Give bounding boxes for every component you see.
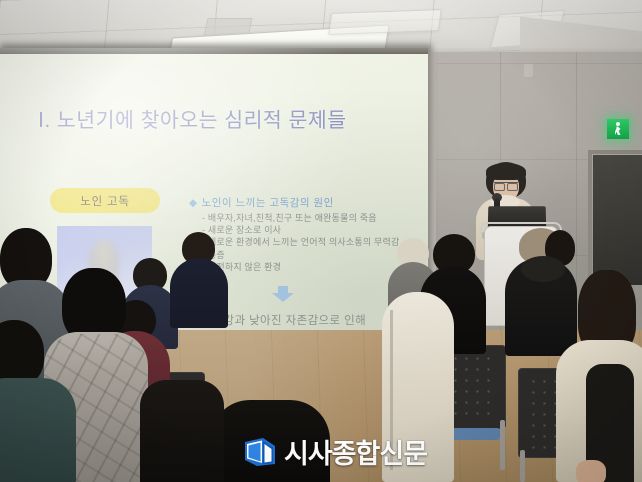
audience-member	[170, 232, 228, 328]
slide-sub-bullet-list: 배우자,자녀,친척,친구 또는 애완동물의 죽음 새로운 장소로 이사 새로운 …	[202, 212, 400, 273]
audience-torso	[0, 378, 76, 482]
chair-leg	[520, 450, 525, 482]
audience-bag	[140, 380, 224, 482]
list-item: 새로운 장소로 이사	[202, 224, 400, 236]
audience-hands	[576, 460, 606, 482]
audience-member	[0, 320, 72, 482]
audience-member	[560, 270, 642, 482]
list-item: 새로운 환경에서 느끼는 언어적 의사소통의 무력감	[202, 236, 400, 248]
doorway	[593, 155, 642, 285]
emergency-exit-icon	[606, 118, 630, 140]
slide-bullet-heading-text: 노인이 느끼는 고독감의 원인	[202, 197, 334, 209]
bullet-marker-icon: ◆	[189, 197, 198, 209]
watermark-text: 시사종합신문	[284, 432, 427, 471]
chair-leg	[500, 420, 505, 470]
photo-scene: Ⅰ. 노년기에 찾아오는 심리적 문제들 노인 고독 ◆노인이 느끼는 고독감의…	[0, 0, 642, 482]
audience-torso	[170, 258, 228, 328]
audience-member	[140, 380, 224, 482]
list-item: 통증	[202, 249, 400, 261]
list-item: 안전하지 않은 환경	[202, 261, 400, 273]
down-arrow-icon	[272, 286, 294, 302]
slide-topic-pill: 노인 고독	[50, 188, 160, 213]
slide-bullet-heading: ◆노인이 느끼는 고독감의 원인	[189, 195, 334, 210]
watermark: 시사종합신문	[243, 432, 427, 471]
slide-title: Ⅰ. 노년기에 찾아오는 심리적 문제들	[38, 103, 347, 133]
open-book-logo	[243, 436, 277, 468]
chair-perforations	[450, 353, 496, 421]
ceiling-light-panel	[328, 9, 442, 35]
glasses-icon	[494, 182, 518, 189]
audience-head	[0, 320, 44, 386]
audience-hood	[521, 256, 565, 282]
smoke-detector	[524, 64, 533, 77]
list-item: 배우자,자녀,친척,친구 또는 애완동물의 죽음	[202, 212, 400, 224]
running-person-glyph	[614, 122, 623, 136]
presenter-fringe	[486, 163, 526, 180]
screen-top-bar	[0, 48, 428, 54]
